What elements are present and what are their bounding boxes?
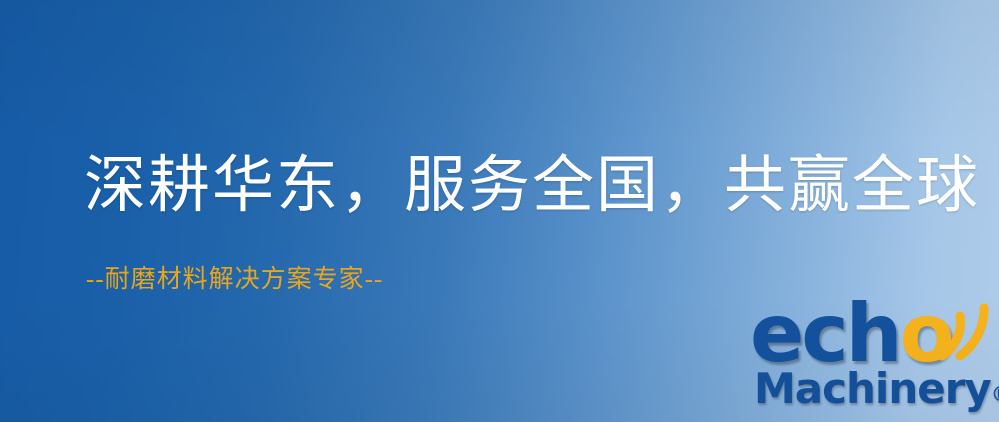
echo-machinery-logo[interactable]: echo Machinery® bbox=[748, 298, 999, 422]
signal-arcs-icon bbox=[934, 294, 999, 366]
logo-tagline-text: Machinery bbox=[754, 364, 991, 413]
banner-headline: 深耕华东，服务全国，共赢全球 bbox=[84, 155, 980, 217]
registered-trademark-icon: ® bbox=[991, 382, 999, 406]
promo-banner: 深耕华东，服务全国，共赢全球 --耐磨材料解决方案专家-- echo Machi… bbox=[0, 0, 999, 422]
logo-tagline: Machinery® bbox=[754, 368, 999, 410]
banner-subtitle: --耐磨材料解决方案专家-- bbox=[86, 267, 383, 292]
logo-echo-text: echo bbox=[750, 294, 952, 374]
